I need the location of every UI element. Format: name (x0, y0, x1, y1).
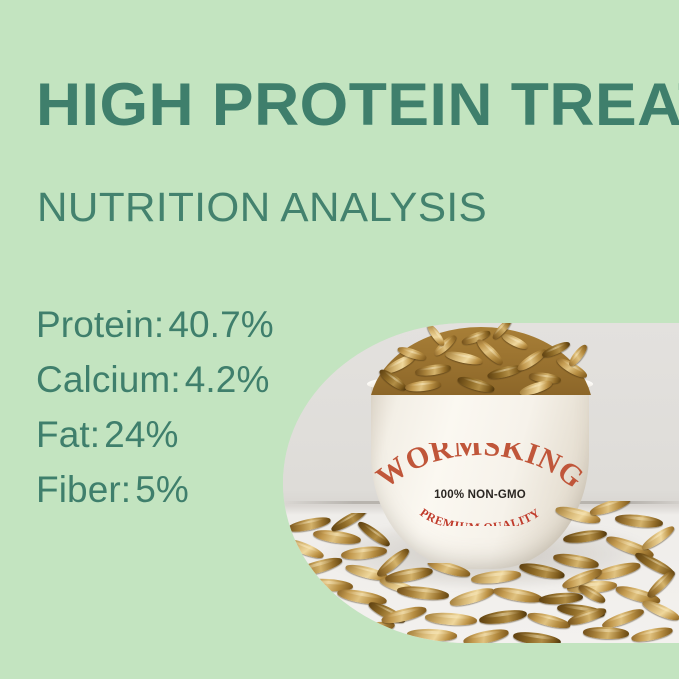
nutrition-value-fiber: 5% (135, 469, 189, 510)
svg-text:WORMSKING: WORMSKING (371, 443, 589, 495)
page-title: HIGH PROTEIN TREATS (36, 74, 679, 136)
brand-tagline-premium: PREMIUM QUALITY (417, 505, 542, 526)
nutrition-label-fiber: Fiber: (36, 469, 131, 510)
nutrition-value-calcium: 4.2% (185, 359, 270, 400)
nutrition-label-fat: Fat: (36, 414, 100, 455)
product-photo: WORMSKING 100% NON-GMO PREMIUM QUALITY (283, 323, 679, 643)
brand-arc-text: WORMSKING (371, 443, 589, 495)
nutrition-label-calcium: Calcium: (36, 359, 181, 400)
brand-arc-text-secondary: PREMIUM QUALITY (371, 500, 589, 526)
larvae-heap-detail (369, 323, 593, 395)
product-infographic: HIGH PROTEIN TREATS NUTRITION ANALYSIS P… (0, 0, 679, 679)
larvae-scatter-front (379, 563, 609, 643)
nutrition-value-fat: 24% (104, 414, 178, 455)
nutrition-value-protein: 40.7% (168, 304, 273, 345)
section-subtitle: NUTRITION ANALYSIS (37, 184, 487, 230)
bowl-brand-logo: WORMSKING 100% NON-GMO PREMIUM QUALITY (371, 443, 589, 523)
svg-text:PREMIUM QUALITY: PREMIUM QUALITY (417, 505, 542, 526)
nutrition-label-protein: Protein: (36, 304, 164, 345)
larvae-heap (369, 323, 593, 395)
brand-name: WORMSKING (371, 443, 589, 495)
